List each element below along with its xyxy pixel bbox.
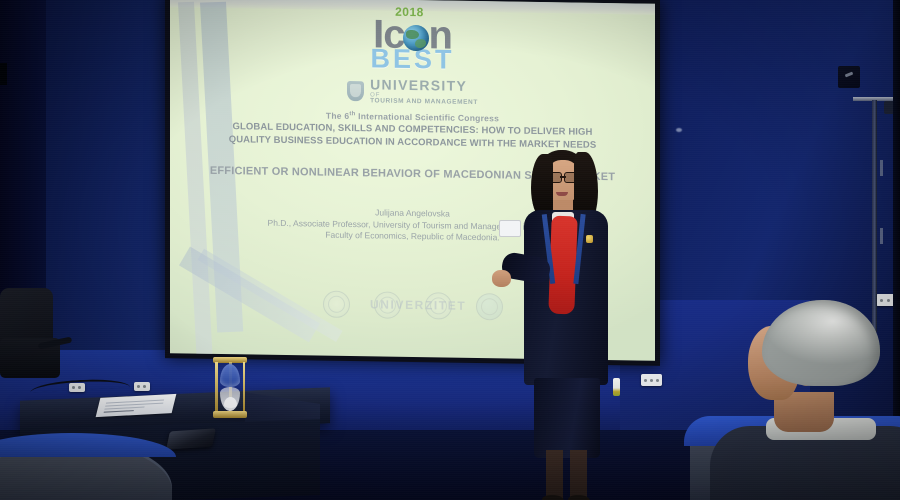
wall-speaker-icon (838, 66, 860, 88)
logo-wordmark: 2018 Icn (373, 7, 452, 55)
power-outlet (134, 382, 150, 391)
presenter-shoe (542, 495, 564, 500)
university-subtitle: TOURISM AND MANAGEMENT (370, 98, 478, 107)
university-text: UNIVERSITY OF TOURISM AND MANAGEMENT (370, 77, 478, 106)
hourglass-base (213, 411, 247, 418)
power-outlet (641, 374, 662, 386)
smartphone (166, 428, 216, 449)
man-hair (762, 300, 880, 386)
badge-lanyard (544, 214, 584, 292)
lapel-pin-icon (586, 235, 593, 243)
mount-pole (872, 100, 877, 332)
globe-icon (403, 25, 429, 51)
congress-prefix: The 6 (326, 111, 349, 121)
presenter-shoe (568, 495, 590, 500)
presenter-leg (546, 450, 563, 500)
logo-year-label: 2018 (395, 6, 424, 18)
name-badge (499, 220, 521, 237)
logo-icon-text-tail: n (428, 8, 451, 55)
presenter-hair-left (531, 154, 553, 216)
mount-clip (880, 160, 883, 176)
presenter-hand (492, 270, 511, 287)
power-outlet (69, 383, 85, 392)
hourglass-upper-bulb (220, 364, 240, 387)
mount-clip (880, 228, 883, 244)
audience-chair-left (0, 440, 172, 500)
left-wall-shadow (0, 0, 46, 300)
congress-theme: GLOBAL EDUCATION, SKILLS AND COMPETENCIE… (176, 120, 649, 153)
hourglass-post (215, 362, 218, 412)
hourglass-sand (224, 397, 237, 408)
presenter-skirt (534, 378, 600, 458)
power-cord-plug (613, 378, 620, 396)
congress-suffix: International Scientific Congress (356, 111, 500, 123)
university-lockup: UNIVERSITY OF TOURISM AND MANAGEMENT (170, 74, 655, 109)
hourglass-timer (213, 357, 247, 417)
presenter-leg (570, 450, 587, 500)
hourglass-post (243, 362, 246, 412)
wall-recess (0, 63, 7, 85)
seated-audience-man (740, 300, 900, 460)
university-crest-icon (347, 81, 364, 101)
iconbest-logo: 2018 Icn BEST UNIVERSITY OF TOURISM AND … (170, 4, 655, 109)
university-name: UNIVERSITY (370, 77, 478, 93)
conference-room-photo: 2018 Icn BEST UNIVERSITY OF TOURISM AND … (0, 0, 900, 500)
light-reflection (676, 128, 682, 132)
